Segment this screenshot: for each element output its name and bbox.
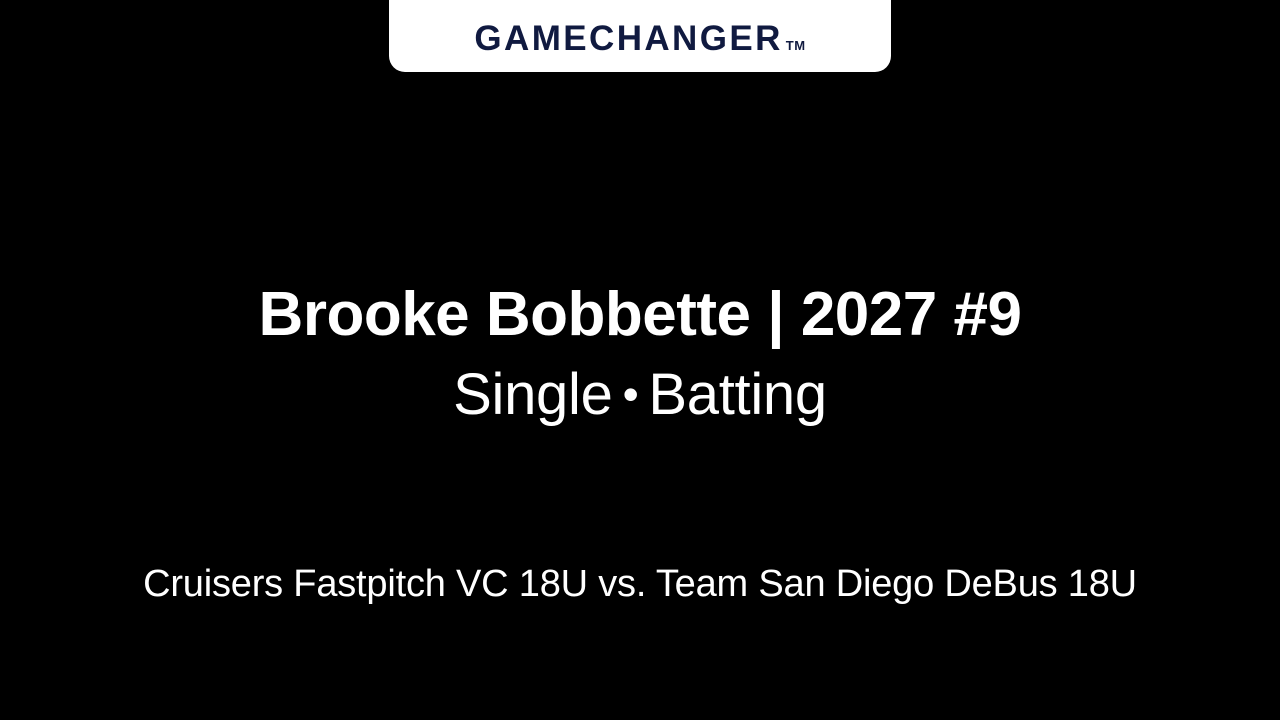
matchup-block: Cruisers Fastpitch VC 18U vs. Team San D…	[0, 563, 1280, 607]
headline-block: Brooke Bobbette | 2027 #9 Single•Batting	[0, 282, 1280, 427]
logo-lockup: GAMECHANGER TM	[474, 21, 805, 56]
gamechanger-wordmark: GAMECHANGER	[474, 21, 782, 56]
player-title: Brooke Bobbette | 2027 #9	[0, 282, 1280, 349]
play-type-label: Single	[453, 362, 612, 427]
play-subtitle: Single•Batting	[0, 363, 1280, 427]
matchup-label: Cruisers Fastpitch VC 18U vs. Team San D…	[0, 563, 1280, 607]
play-category-label: Batting	[648, 362, 826, 427]
highlight-card: GAMECHANGER TM Brooke Bobbette | 2027 #9…	[0, 0, 1280, 720]
bullet-separator-icon: •	[623, 369, 639, 420]
gamechanger-logo-badge: GAMECHANGER TM	[389, 0, 891, 72]
trademark-icon: TM	[786, 39, 806, 52]
